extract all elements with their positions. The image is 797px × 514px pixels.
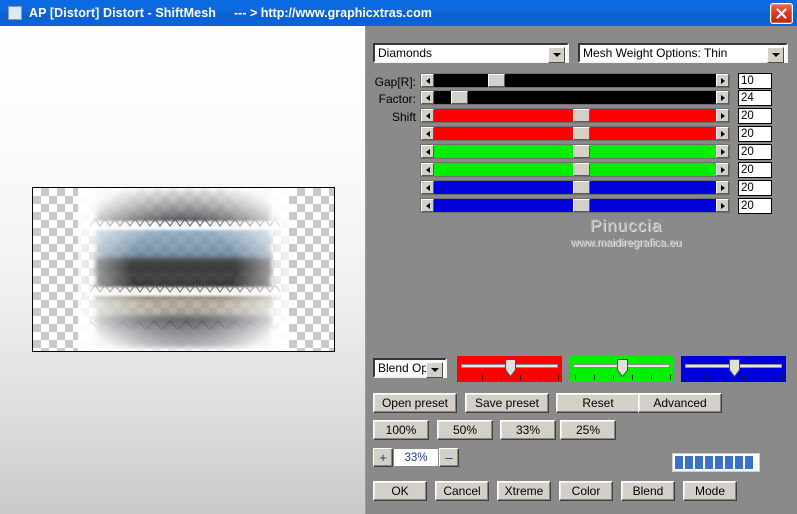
image-preview[interactable] bbox=[32, 187, 335, 352]
slider-0[interactable] bbox=[420, 73, 730, 88]
slider-label-1: Factor: bbox=[366, 92, 416, 106]
slider-label-0: Gap[R]: bbox=[366, 75, 416, 89]
button-color[interactable]: Color bbox=[559, 481, 613, 501]
slider-track-1[interactable] bbox=[434, 91, 716, 104]
slider-left-arrow-5[interactable] bbox=[421, 163, 434, 176]
progress-block bbox=[725, 456, 733, 469]
slider-left-arrow-6[interactable] bbox=[421, 181, 434, 194]
title-bar: AP [Distort] Distort - ShiftMesh --- > h… bbox=[0, 0, 797, 26]
slider-track-0[interactable] bbox=[434, 74, 716, 87]
slider-5[interactable] bbox=[420, 162, 730, 177]
mesh-weight-value: Mesh Weight Options: Thin bbox=[580, 46, 727, 60]
plugin-window: AP [Distort] Distort - ShiftMesh --- > h… bbox=[0, 0, 797, 514]
slider-left-arrow-2[interactable] bbox=[421, 109, 434, 122]
slider-left-arrow-7[interactable] bbox=[421, 199, 434, 212]
progress-block bbox=[705, 456, 713, 469]
mesh-weight-combo[interactable]: Mesh Weight Options: Thin bbox=[578, 43, 788, 63]
trackbar-thumb-green[interactable] bbox=[617, 359, 628, 377]
window-title: AP [Distort] Distort - ShiftMesh bbox=[29, 6, 216, 20]
slider-track-7[interactable] bbox=[434, 199, 716, 212]
slider-track-3[interactable] bbox=[434, 127, 716, 140]
trackbar-thumb-blue[interactable] bbox=[729, 359, 740, 377]
progress-block bbox=[675, 456, 683, 469]
slider-2[interactable] bbox=[420, 108, 730, 123]
watermark-line2: www.maidiregrafica.eu bbox=[526, 237, 726, 249]
chevron-down-icon-3[interactable] bbox=[426, 362, 443, 378]
slider-value-5[interactable]: 20 bbox=[738, 162, 772, 178]
slider-thumb-4[interactable] bbox=[573, 145, 590, 158]
slider-track-5[interactable] bbox=[434, 163, 716, 176]
button-xtreme[interactable]: Xtreme bbox=[497, 481, 551, 501]
zoom-button-25[interactable]: 25% bbox=[560, 420, 616, 440]
button-reset[interactable]: Reset bbox=[556, 393, 640, 413]
button-blend[interactable]: Blend bbox=[621, 481, 675, 501]
slider-thumb-2[interactable] bbox=[573, 109, 590, 122]
slider-thumb-7[interactable] bbox=[573, 199, 590, 212]
zoom-button-100[interactable]: 100% bbox=[373, 420, 429, 440]
zoom-spinner[interactable]: + 33% – bbox=[373, 448, 459, 467]
slider-track-2[interactable] bbox=[434, 109, 716, 122]
slider-value-3[interactable]: 20 bbox=[738, 126, 772, 142]
preset-shape-value: Diamonds bbox=[375, 46, 432, 60]
button-save-preset[interactable]: Save preset bbox=[465, 393, 549, 413]
slider-thumb-5[interactable] bbox=[573, 163, 590, 176]
slider-3[interactable] bbox=[420, 126, 730, 141]
progress-block bbox=[745, 456, 753, 469]
slider-right-arrow-6[interactable] bbox=[716, 181, 729, 194]
window-title-url: --- > http://www.graphicxtras.com bbox=[234, 6, 432, 20]
button-ok[interactable]: OK bbox=[373, 481, 427, 501]
slider-right-arrow-0[interactable] bbox=[716, 74, 729, 87]
progress-block bbox=[685, 456, 693, 469]
slider-right-arrow-7[interactable] bbox=[716, 199, 729, 212]
controls-panel: Diamonds Mesh Weight Options: Thin Gap[R… bbox=[366, 26, 797, 514]
slider-value-2[interactable]: 20 bbox=[738, 108, 772, 124]
slider-right-arrow-4[interactable] bbox=[716, 145, 729, 158]
trackbar-thumb-red[interactable] bbox=[505, 359, 516, 377]
progress-block bbox=[695, 456, 703, 469]
slider-6[interactable] bbox=[420, 180, 730, 195]
button-mode[interactable]: Mode bbox=[683, 481, 737, 501]
button-advanced[interactable]: Advanced bbox=[638, 393, 722, 413]
slider-right-arrow-1[interactable] bbox=[716, 91, 729, 104]
slider-track-4[interactable] bbox=[434, 145, 716, 158]
slider-label-2: Shift bbox=[366, 110, 416, 124]
zoom-in-button[interactable]: + bbox=[373, 448, 393, 467]
slider-value-1[interactable]: 24 bbox=[738, 90, 772, 106]
blend-options-combo[interactable]: Blend Opti bbox=[373, 358, 447, 378]
slider-thumb-6[interactable] bbox=[573, 181, 590, 194]
watermark-line1: Pinuccia bbox=[526, 216, 726, 236]
slider-left-arrow-1[interactable] bbox=[421, 91, 434, 104]
slider-value-4[interactable]: 20 bbox=[738, 144, 772, 160]
progress-block bbox=[735, 456, 743, 469]
slider-right-arrow-3[interactable] bbox=[716, 127, 729, 140]
zoom-button-50[interactable]: 50% bbox=[437, 420, 493, 440]
button-cancel[interactable]: Cancel bbox=[435, 481, 489, 501]
system-menu-icon[interactable] bbox=[8, 6, 22, 20]
trackbar-blue[interactable] bbox=[681, 356, 786, 382]
progress-indicator bbox=[672, 453, 760, 472]
slider-value-7[interactable]: 20 bbox=[738, 198, 772, 214]
zoom-button-33[interactable]: 33% bbox=[500, 420, 556, 440]
slider-thumb-3[interactable] bbox=[573, 127, 590, 140]
slider-left-arrow-0[interactable] bbox=[421, 74, 434, 87]
close-icon bbox=[775, 8, 788, 19]
slider-thumb-0[interactable] bbox=[488, 74, 505, 87]
watermark: Pinuccia www.maidiregrafica.eu bbox=[526, 216, 726, 249]
distorted-artwork bbox=[96, 188, 271, 351]
slider-1[interactable] bbox=[420, 90, 730, 105]
slider-thumb-1[interactable] bbox=[451, 91, 468, 104]
close-button[interactable] bbox=[770, 3, 793, 24]
slider-right-arrow-5[interactable] bbox=[716, 163, 729, 176]
slider-value-6[interactable]: 20 bbox=[738, 180, 772, 196]
zoom-value[interactable]: 33% bbox=[393, 448, 439, 467]
trackbar-red[interactable] bbox=[457, 356, 562, 382]
slider-value-0[interactable]: 10 bbox=[738, 73, 772, 89]
preset-shape-combo[interactable]: Diamonds bbox=[373, 43, 569, 63]
progress-block bbox=[715, 456, 723, 469]
zoom-out-button[interactable]: – bbox=[439, 448, 459, 467]
chevron-down-icon[interactable] bbox=[548, 47, 565, 63]
slider-4[interactable] bbox=[420, 144, 730, 159]
slider-track-6[interactable] bbox=[434, 181, 716, 194]
button-open-preset[interactable]: Open preset bbox=[373, 393, 457, 413]
chevron-down-icon-2[interactable] bbox=[767, 47, 784, 63]
slider-7[interactable] bbox=[420, 198, 730, 213]
slider-left-arrow-4[interactable] bbox=[421, 145, 434, 158]
preview-panel bbox=[0, 26, 366, 514]
trackbar-green[interactable] bbox=[569, 356, 674, 382]
slider-left-arrow-3[interactable] bbox=[421, 127, 434, 140]
slider-right-arrow-2[interactable] bbox=[716, 109, 729, 122]
